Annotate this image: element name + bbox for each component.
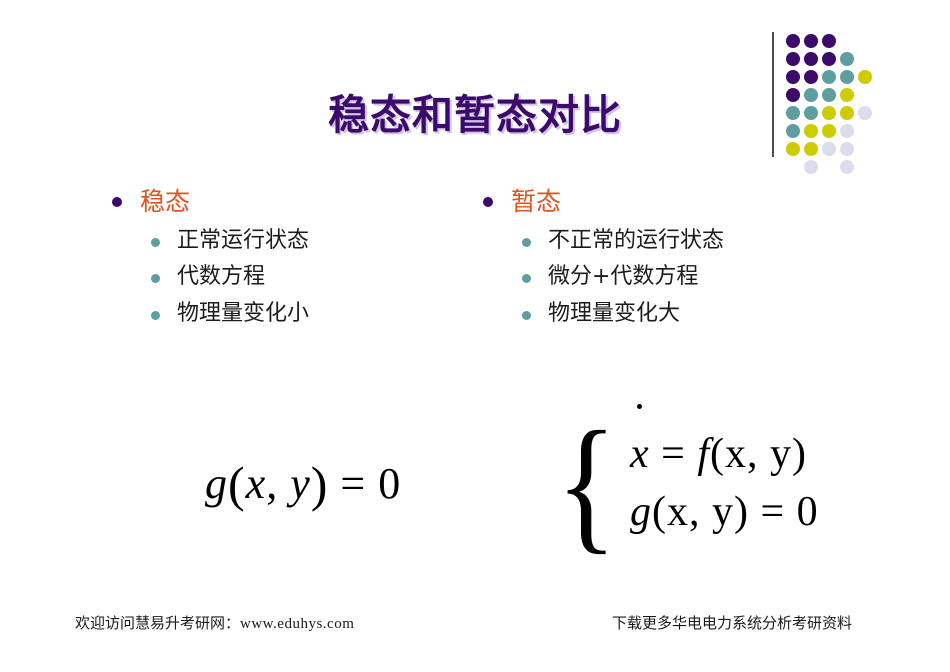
- level2-bullet-icon: [522, 274, 531, 283]
- level2-bullet-icon: [151, 274, 160, 283]
- footer-left-label: 欢迎访问慧易升考研网：: [75, 614, 240, 632]
- equation-transient-system: { x = f(x, y) g(x, y) = 0: [556, 424, 819, 544]
- list-item: 不正常的运行状态: [483, 227, 883, 255]
- equation-open-paren: (: [228, 456, 246, 512]
- decorative-dot: [786, 34, 800, 48]
- equation-equals: =: [328, 459, 378, 508]
- slide-canvas: 稳态和暂态对比 稳态 正常运行状态 代数方程 物理量变化小 暂态 不正常的运行状…: [0, 0, 950, 672]
- decorative-dot: [840, 52, 854, 66]
- list-item-label: 代数方程: [177, 263, 265, 291]
- equation-symbol-x-dot: x: [630, 430, 650, 480]
- equation-args: (x, y): [652, 489, 749, 535]
- level2-bullet-icon: [522, 311, 531, 320]
- footer-website-url: www.eduhys.com: [240, 616, 354, 632]
- level2-bullet-icon: [522, 238, 531, 247]
- column-heading-steady-state: 稳态: [112, 186, 472, 217]
- list-item-label: 不正常的运行状态: [548, 227, 724, 255]
- equation-zero: 0: [797, 489, 819, 535]
- equation-symbol-f: f: [697, 431, 710, 477]
- equation-zero: 0: [378, 459, 401, 508]
- level1-bullet-icon: [112, 197, 122, 207]
- equation-rows: x = f(x, y) g(x, y) = 0: [630, 430, 819, 537]
- heading-label: 暂态: [511, 186, 561, 217]
- list-item: 微分+代数方程: [483, 263, 883, 291]
- decorative-dot: [840, 70, 854, 84]
- decorative-dot: [804, 70, 818, 84]
- list-item-label: 微分+代数方程: [548, 263, 698, 291]
- list-item: 物理量变化大: [483, 300, 883, 328]
- list-item: 物理量变化小: [112, 300, 472, 328]
- page-title: 稳态和暂态对比: [0, 92, 950, 139]
- column-transient-state: 暂态 不正常的运行状态 微分+代数方程 物理量变化大: [483, 186, 883, 336]
- heading-label: 稳态: [140, 186, 190, 217]
- list-item-label: 物理量变化小: [177, 300, 309, 328]
- footer-left: 欢迎访问慧易升考研网：www.eduhys.com: [75, 612, 354, 633]
- equation-steady-state: g(x, y) = 0: [205, 455, 401, 513]
- equation-row-differential: x = f(x, y): [630, 430, 819, 480]
- equation-close-paren: ): [311, 456, 329, 512]
- equation-equals: =: [749, 489, 797, 535]
- equation-args: (x, y): [710, 431, 807, 477]
- list-item: 正常运行状态: [112, 227, 472, 255]
- decorative-dot: [822, 52, 836, 66]
- decorative-dot: [786, 142, 800, 156]
- level2-bullet-icon: [151, 311, 160, 320]
- list-item-label: 正常运行状态: [177, 227, 309, 255]
- equation-equals: =: [650, 431, 698, 477]
- equation-comma: ,: [266, 459, 290, 508]
- equation-symbol-g: g: [205, 459, 228, 508]
- list-item-label: 物理量变化大: [548, 300, 680, 328]
- list-item: 代数方程: [112, 263, 472, 291]
- decorative-dot: [804, 142, 818, 156]
- decorative-dot: [858, 70, 872, 84]
- equation-symbol-x: x: [246, 459, 267, 508]
- column-steady-state: 稳态 正常运行状态 代数方程 物理量变化小: [112, 186, 472, 336]
- decorative-dot: [804, 34, 818, 48]
- decorative-dot: [804, 52, 818, 66]
- decorative-dot: [804, 160, 818, 174]
- left-curly-brace-icon: {: [556, 424, 617, 544]
- decorative-dot: [786, 70, 800, 84]
- decorative-dot: [786, 52, 800, 66]
- column-heading-transient-state: 暂态: [483, 186, 883, 217]
- decorative-dot: [840, 142, 854, 156]
- derivative-dot-icon: [637, 404, 642, 409]
- equation-symbol-y: y: [290, 459, 311, 508]
- level1-bullet-icon: [483, 197, 493, 207]
- level2-bullet-icon: [151, 238, 160, 247]
- equation-row-algebraic: g(x, y) = 0: [630, 488, 819, 538]
- decorative-dot: [822, 70, 836, 84]
- equation-symbol-g: g: [630, 489, 652, 535]
- decorative-dot: [822, 142, 836, 156]
- decorative-dot: [822, 34, 836, 48]
- decorative-dot: [840, 160, 854, 174]
- footer-right: 下载更多华电电力系统分析考研资料: [612, 612, 852, 633]
